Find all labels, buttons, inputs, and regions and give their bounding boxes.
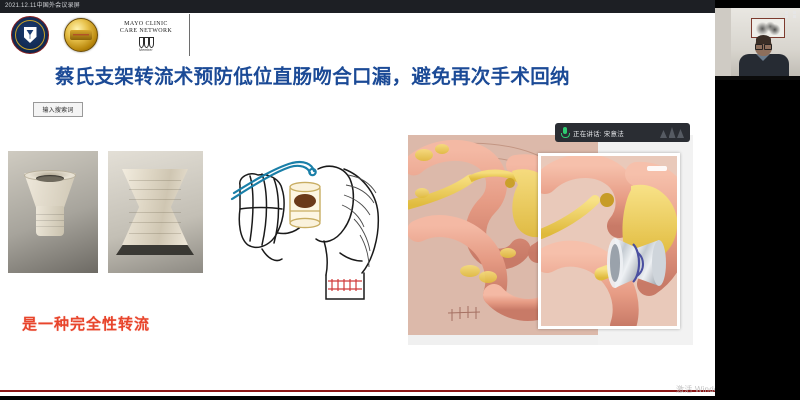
bowel-medical-illustration bbox=[408, 135, 693, 345]
mayo-logo-line2: CARE NETWORK bbox=[110, 28, 182, 35]
bowel-illustration-inset bbox=[538, 153, 680, 329]
slide-bottom-rule bbox=[0, 390, 715, 392]
mayo-member-label: Member bbox=[110, 48, 182, 52]
recording-title-bar: 2021.12.11中国外会议录屏 bbox=[0, 0, 715, 13]
mayo-clinic-care-network-logo: MAYO CLINIC CARE NETWORK Member bbox=[110, 16, 182, 54]
mayo-logo-line1: MAYO CLINIC bbox=[110, 21, 182, 28]
video-tile-bottom-bar bbox=[715, 76, 800, 80]
red-caption-text: 是一种完全性转流 bbox=[22, 313, 150, 334]
search-input[interactable]: 输入搜索词 bbox=[33, 102, 83, 117]
participants-rail bbox=[715, 0, 800, 400]
slide-logo-band: MAYO CLINIC CARE NETWORK Member bbox=[0, 13, 715, 57]
logo-divider bbox=[189, 14, 190, 56]
bowel-line-drawing bbox=[228, 149, 408, 314]
university-shield-emblem bbox=[6, 16, 54, 54]
audio-wave-icon bbox=[660, 127, 684, 138]
participant-glasses bbox=[755, 44, 772, 48]
active-speaker-label: 正在讲话: 宋意法 bbox=[573, 128, 624, 138]
meeting-screen-share-window: 2021.12.11中国外会议录屏 MAYO CLINIC CARE NETWO… bbox=[0, 0, 800, 400]
slide-title: 蔡氏支架转流术预防低位直肠吻合口漏，避免再次手术回纳 bbox=[55, 60, 695, 89]
grid-view-icon[interactable] bbox=[785, 11, 796, 22]
mayo-shields-icon bbox=[139, 37, 154, 48]
stent-photo-funnel bbox=[8, 151, 98, 273]
microphone-icon bbox=[561, 127, 568, 138]
gold-medal-emblem bbox=[60, 16, 102, 54]
shared-slide-surface: MAYO CLINIC CARE NETWORK Member 蔡氏支架转流术预… bbox=[0, 13, 715, 396]
stent-photo-spool bbox=[108, 151, 203, 273]
video-background-left-wall bbox=[715, 8, 731, 80]
active-speaker-pill: 正在讲话: 宋意法 bbox=[555, 123, 690, 142]
participant-video-tile[interactable] bbox=[715, 8, 800, 80]
